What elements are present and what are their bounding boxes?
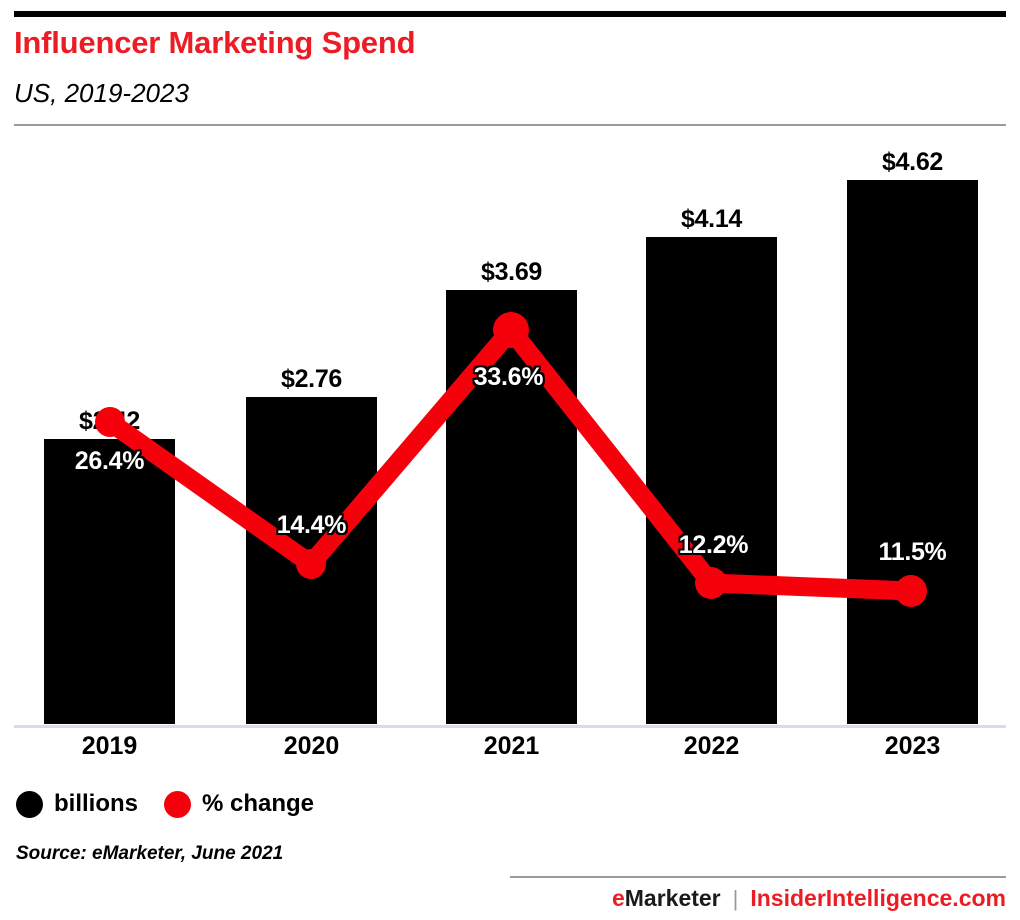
- source-note: Source: eMarketer, June 2021: [16, 843, 283, 865]
- pct-label-2023: 11.5%: [847, 538, 978, 567]
- page-subtitle: US, 2019-2023: [14, 78, 189, 109]
- x-tick-2023: 2023: [847, 732, 978, 761]
- pct-label-2022: 12.2%: [648, 531, 779, 560]
- pct-label-2019: 26.4%: [44, 447, 175, 476]
- footer-branding: eMarketer | InsiderIntelligence.com: [612, 885, 1006, 912]
- x-tick-2021: 2021: [446, 732, 577, 761]
- brand-marketer-text: Marketer: [625, 885, 721, 911]
- circle-icon-red: [164, 791, 191, 818]
- top-rule: [14, 11, 1006, 17]
- brand-e-letter: e: [612, 885, 625, 911]
- footer-site-link[interactable]: InsiderIntelligence.com: [750, 885, 1006, 912]
- line-marker-2021: [493, 312, 529, 348]
- x-axis-labels: 2019 2020 2021 2022 2023: [0, 732, 1020, 766]
- percent-change-line: [0, 130, 1020, 730]
- page-title: Influencer Marketing Spend: [14, 25, 415, 61]
- pct-label-2020: 14.4%: [246, 511, 377, 540]
- line-marker-2019: [95, 407, 125, 437]
- circle-icon-black: [16, 791, 43, 818]
- legend-item-billions: billions: [16, 790, 138, 818]
- line-marker-2023: [895, 575, 927, 607]
- footer-divider: [510, 876, 1006, 878]
- chart-legend: billions % change: [16, 790, 314, 818]
- line-marker-2020: [296, 549, 326, 579]
- x-tick-2019: 2019: [44, 732, 175, 761]
- x-tick-2022: 2022: [646, 732, 777, 761]
- line-marker-2022: [695, 567, 727, 599]
- x-axis-line: [14, 725, 1006, 728]
- header-divider: [14, 124, 1006, 126]
- chart-plot-area: $2.42 $2.76 $3.69 $4.14 $4.62 26.4% 14.4…: [0, 130, 1020, 730]
- x-tick-2020: 2020: [246, 732, 377, 761]
- footer-separator: |: [733, 886, 739, 912]
- legend-label-billions: billions: [54, 790, 138, 818]
- pct-label-2021: 33.6%: [443, 363, 574, 392]
- legend-item-pct-change: % change: [164, 790, 314, 818]
- legend-label-pct-change: % change: [202, 790, 314, 818]
- brand-emarketer: eMarketer: [612, 885, 721, 912]
